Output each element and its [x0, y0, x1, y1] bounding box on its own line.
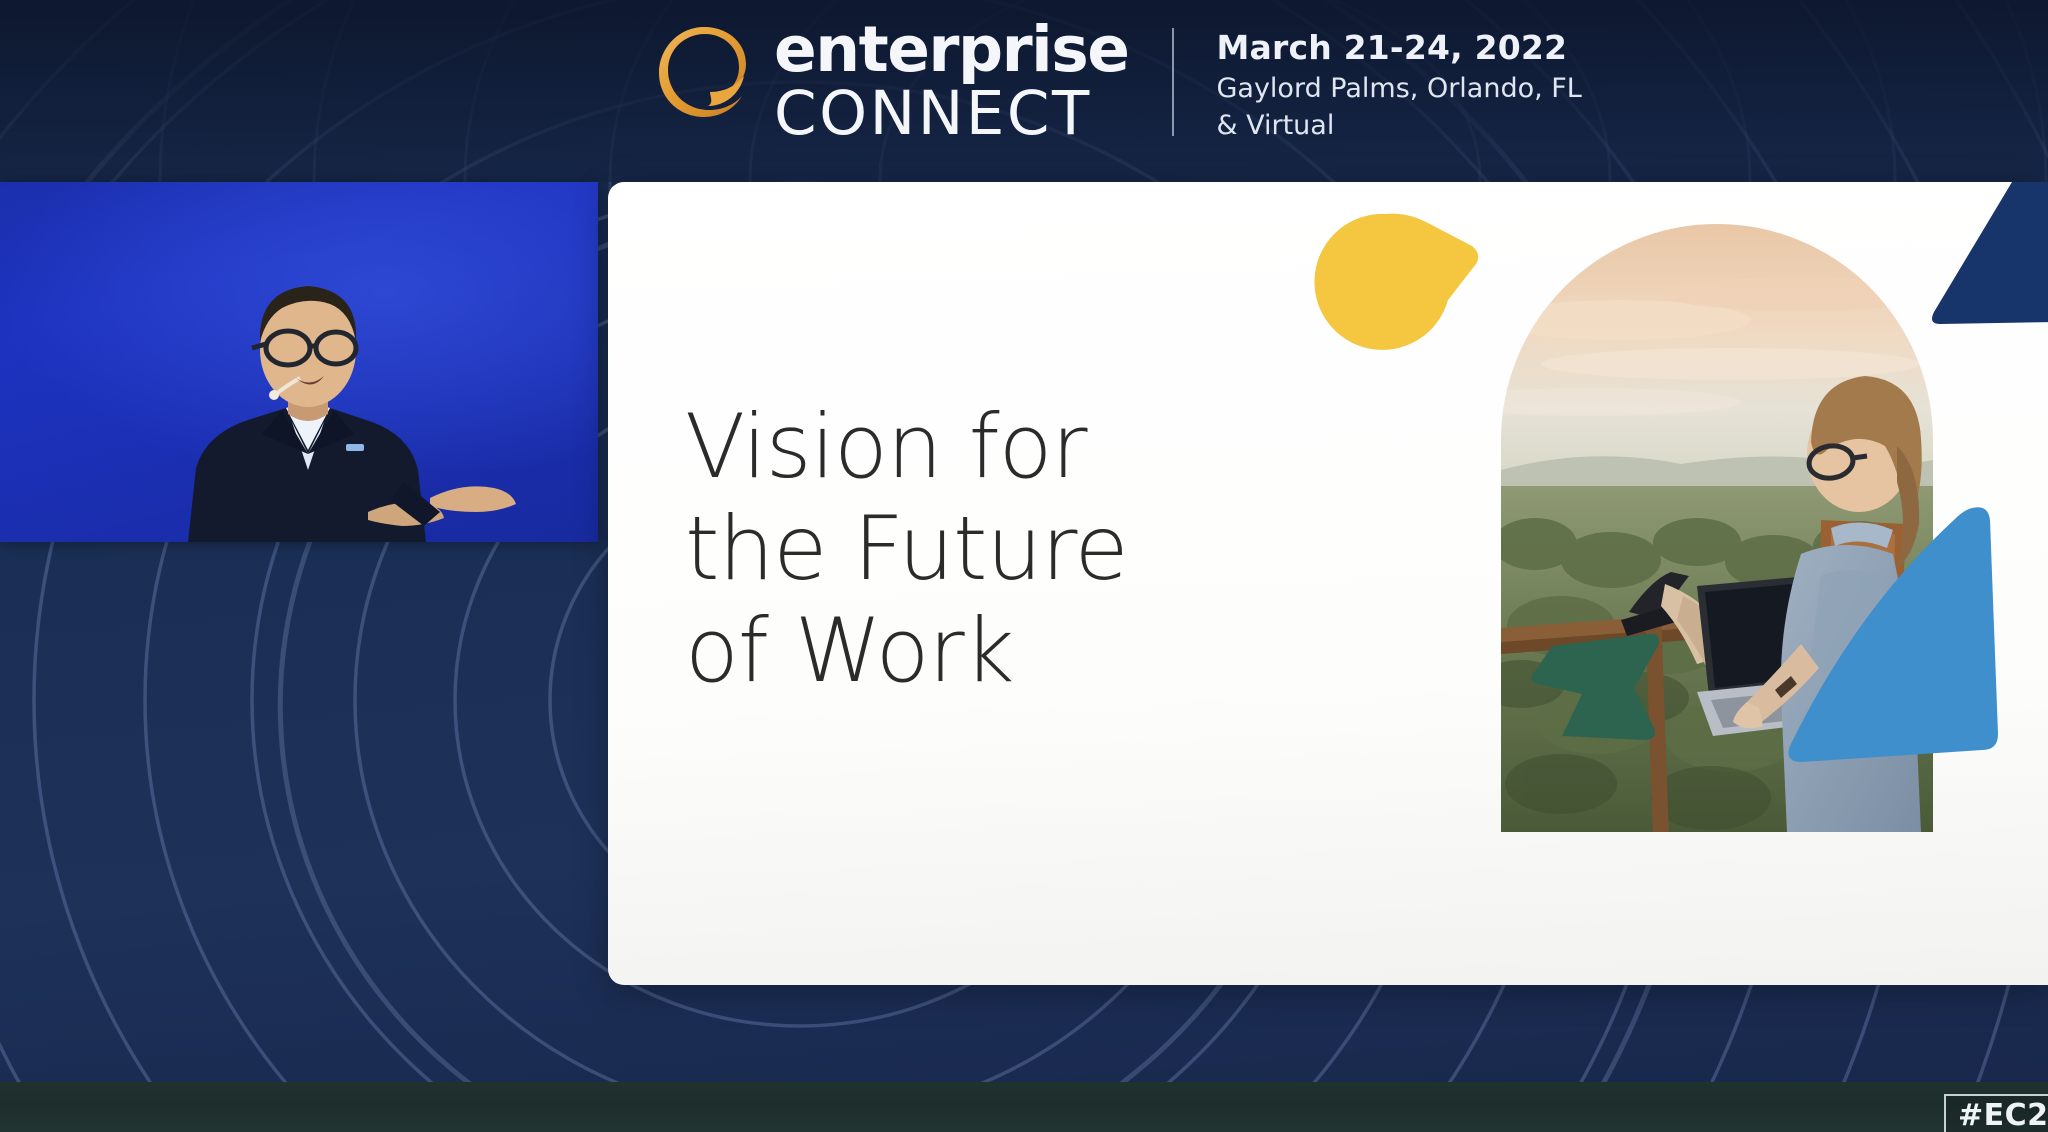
- brand-wordmark: enterprise CONNECT: [774, 18, 1128, 144]
- header-content: enterprise CONNECT March 21-24, 2022 Gay…: [648, 14, 1582, 144]
- event-details: March 21-24, 2022 Gaylord Palms, Orlando…: [1216, 28, 1581, 141]
- slide-title: Vision for the Future of Work: [685, 396, 1305, 702]
- event-header-bar: enterprise CONNECT March 21-24, 2022 Gay…: [0, 0, 2048, 182]
- yellow-teardrop-circle-shape: [1308, 202, 1486, 362]
- presentation-stage: enterprise CONNECT March 21-24, 2022 Gay…: [0, 0, 2048, 1132]
- event-dates-text: March 21-24, 2022: [1216, 28, 1581, 67]
- event-virtual-text: & Virtual: [1216, 110, 1581, 141]
- event-venue-text: Gaylord Palms, Orlando, FL: [1216, 73, 1581, 104]
- presentation-slide: Vision for the Future of Work: [608, 182, 2048, 985]
- blue-quarter-fan-shape: [1776, 500, 2006, 770]
- brand-enterprise-text: enterprise: [774, 18, 1128, 81]
- green-chevron-shape: [1528, 632, 1678, 742]
- enterprise-connect-ring-logo-icon: [648, 20, 760, 124]
- event-hashtag-badge: #EC22: [1944, 1094, 2048, 1132]
- speaker-figure: [0, 182, 598, 542]
- header-divider: [1172, 28, 1174, 136]
- brand-connect-text: CONNECT: [774, 83, 1128, 144]
- speaker-video-thumbnail[interactable]: [0, 182, 598, 542]
- bottom-stage-strip: [0, 1082, 2048, 1132]
